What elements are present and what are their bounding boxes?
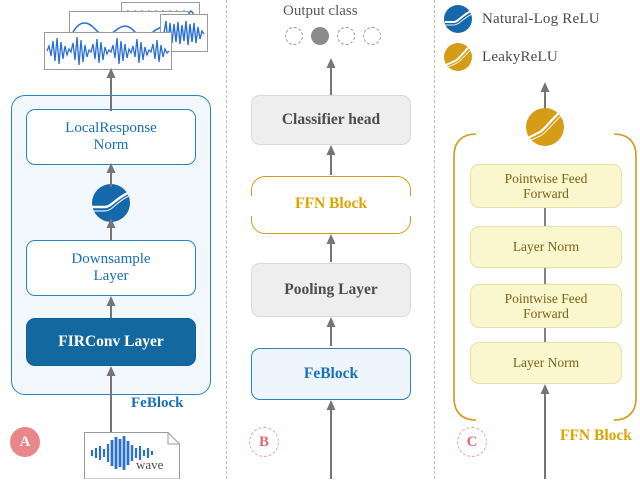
panel-divider-b-c [434,0,435,479]
connector-feblockb-to-pooling [320,317,342,346]
block-firconv-layer[interactable]: FIRConv Layer [26,318,196,366]
block-label: Pooling Layer [284,281,377,298]
legend-item-leaky-relu: LeakyReLU [443,42,558,72]
block-classifier-head[interactable]: Classifier head [251,95,411,145]
legend-label: LeakyReLU [482,49,558,66]
output-class-circle-3[interactable] [337,27,355,45]
activation-circle-icon [443,4,473,34]
connector-activation-to-lrn [100,163,122,187]
block-label: Downsample Layer [71,251,150,285]
activation-circle-icon [443,42,473,72]
block-local-response-norm[interactable]: LocalResponse Norm [26,109,196,165]
block-layer-norm-2[interactable]: Layer Norm [470,342,622,384]
block-pointwise-feed-forward-1[interactable]: Pointwise Feed Forward [470,164,622,208]
connector-ln1-to-pff1 [534,208,556,228]
legend-label: Natural-Log ReLU [482,11,600,28]
ffn-block-label-c: FFN Block [560,427,632,445]
connector-input-to-feblockb [320,400,342,479]
connector-wave-to-firconv [100,366,122,438]
output-class-circle-1[interactable] [285,27,303,45]
block-ffn-label: FFN Block [251,195,411,213]
connector-pooling-to-ffn [320,234,342,262]
dense-waveform-icon [45,33,171,69]
panel-divider-a-b [226,0,227,479]
figure-root: LocalResponse Norm Downsample Layer FIRC… [0,0,640,479]
output-class-title: Output class [283,3,358,20]
panel-badge-b: B [249,427,279,457]
block-pooling-layer[interactable]: Pooling Layer [251,263,411,317]
panel-badge-a: A [10,427,40,457]
block-label: Classifier head [282,111,380,128]
block-downsample-layer[interactable]: Downsample Layer [26,240,196,296]
block-label: LocalResponse Norm [65,120,157,154]
block-label: Layer Norm [513,355,579,370]
connector-classifier-to-output [320,58,342,96]
wave-source-label: wave [136,457,163,473]
feblock-container-label: FeBlock [131,395,184,412]
block-label: Pointwise Feed Forward [505,291,588,321]
block-feblock[interactable]: FeBlock [251,348,411,400]
folded-corner-shape [84,432,180,479]
block-label: Pointwise Feed Forward [505,171,588,201]
block-label: FIRConv Layer [58,333,163,350]
block-label: FeBlock [304,365,358,382]
waveform-card-dense [44,32,172,70]
block-pointwise-feed-forward-2[interactable]: Pointwise Feed Forward [470,284,622,328]
output-class-circle-4[interactable] [363,27,381,45]
output-class-circle-2[interactable] [311,27,329,45]
wave-source-card [84,432,180,479]
connector-input-to-ffnc [534,384,556,479]
legend-item-natural-log-relu: Natural-Log ReLU [443,4,600,34]
panel-badge-c: C [457,427,487,457]
connector-ffn-to-classifier [320,145,342,175]
connector-lrn-up [100,95,122,111]
block-label: Layer Norm [513,239,579,254]
block-layer-norm-1[interactable]: Layer Norm [470,226,622,268]
